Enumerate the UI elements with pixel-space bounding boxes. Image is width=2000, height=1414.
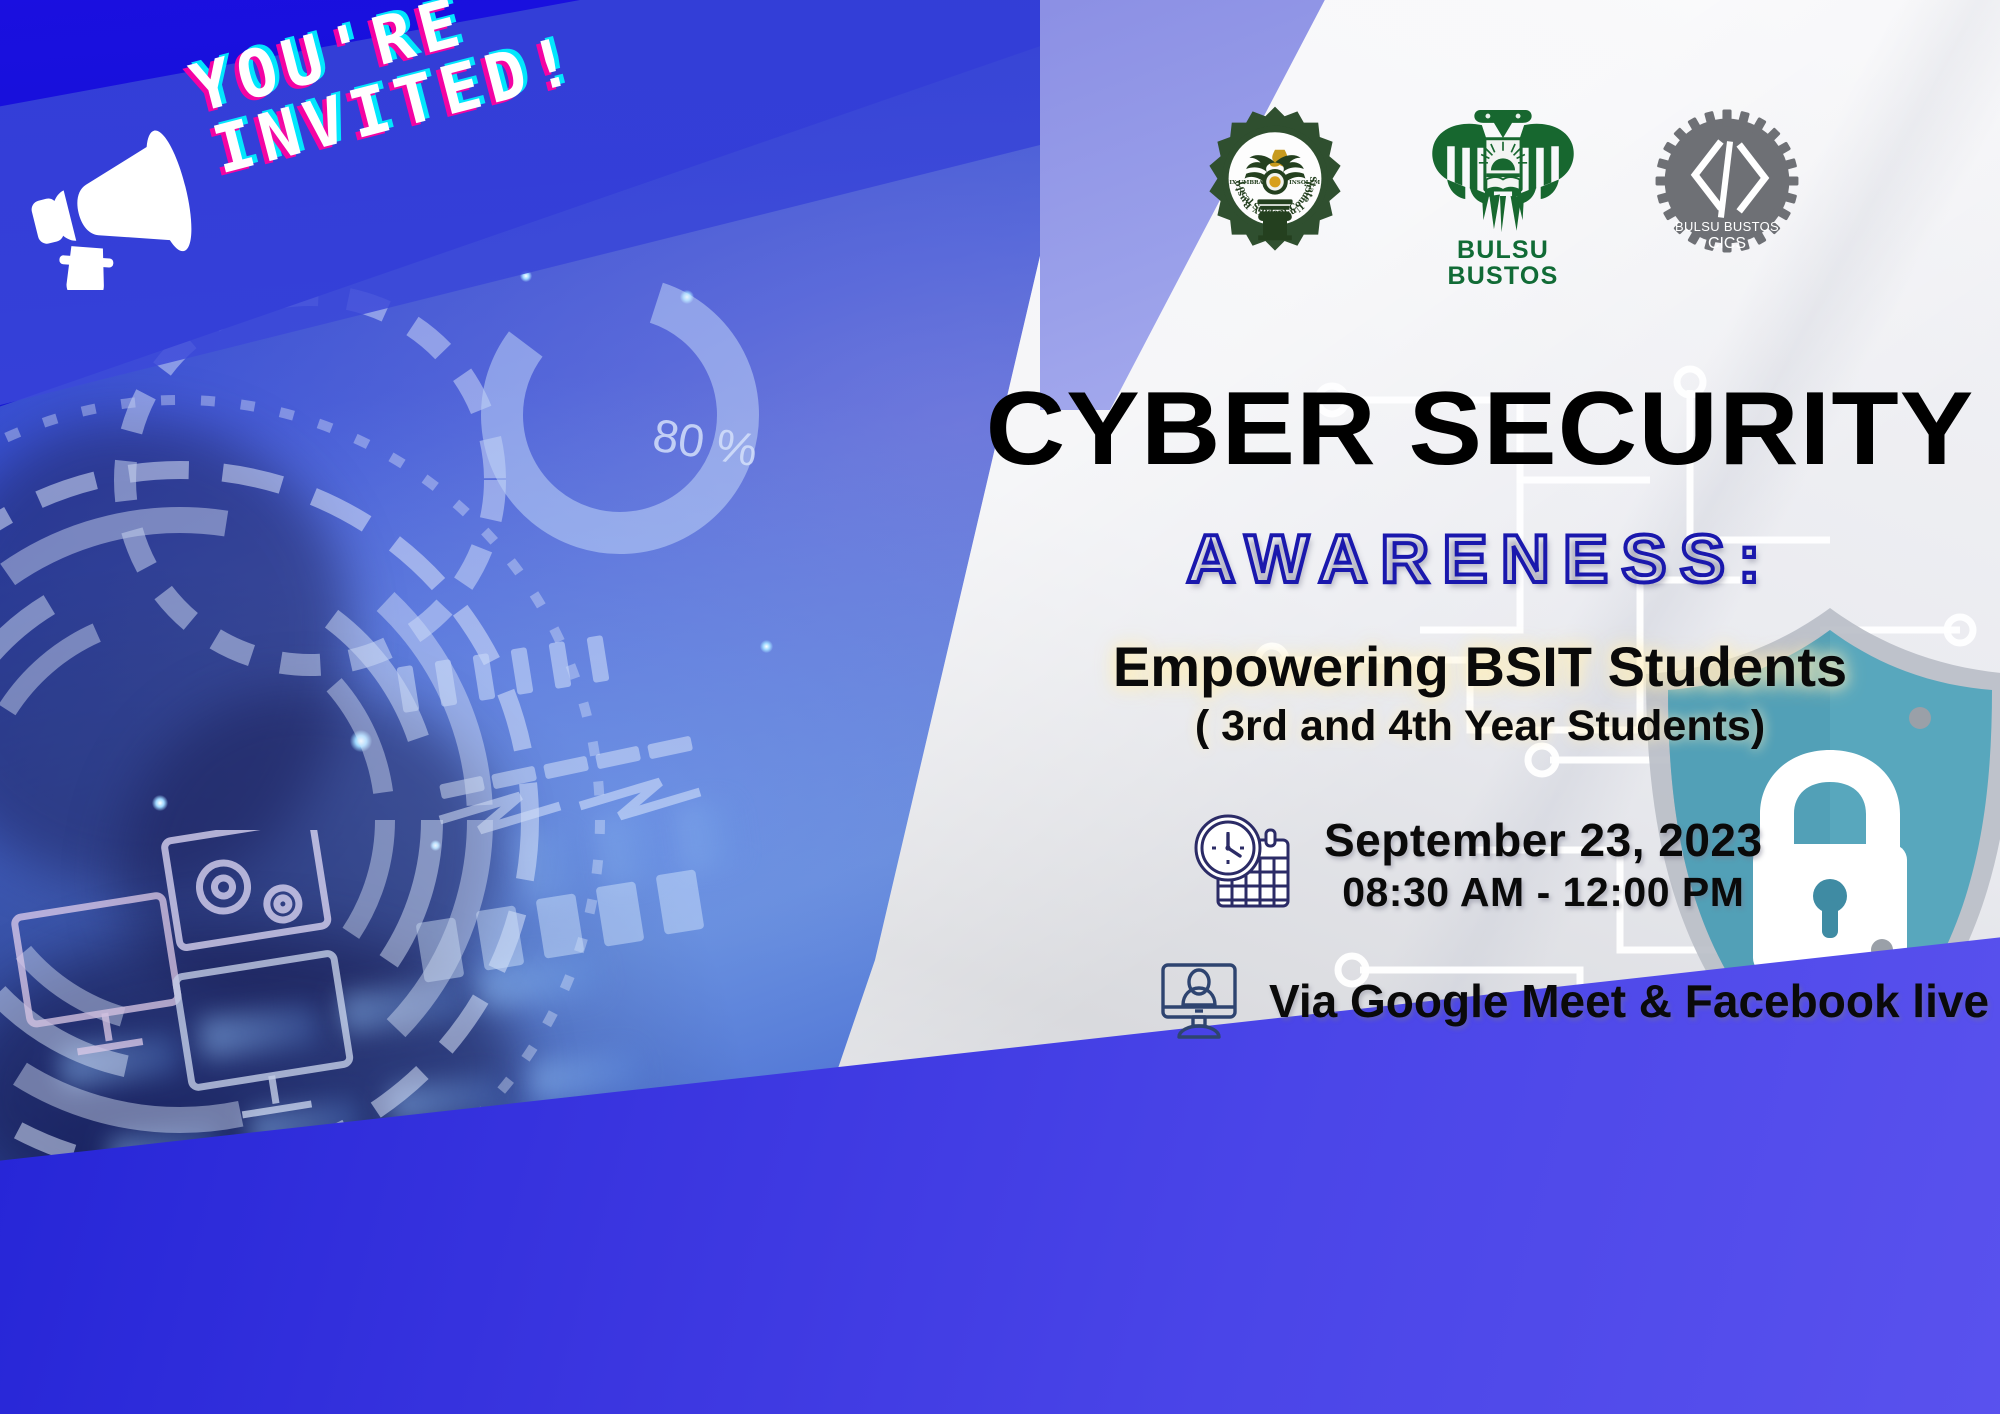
event-date: September 23, 2023 xyxy=(1324,813,1763,867)
event-subtitle: AWARENESS: xyxy=(1000,520,1960,598)
bulsu-wordmark: BULSU BUSTOS xyxy=(1448,237,1559,289)
cics-caption-line1: BULSU BUSTOS xyxy=(1675,219,1779,234)
bulsu-wordmark-line2: BUSTOS xyxy=(1448,263,1559,289)
webinar-monitor-icon xyxy=(1155,955,1247,1047)
date-time-row: September 23, 2023 08:30 AM - 12:00 PM xyxy=(1190,812,1763,916)
svg-text:INSOLEM: INSOLEM xyxy=(1289,180,1320,186)
venue-row: Via Google Meet & Facebook live xyxy=(1155,955,1989,1047)
bulsu-eagle-logo-icon xyxy=(1427,101,1579,233)
event-tagline: Empowering BSIT Students xyxy=(1000,634,1960,699)
bulsu-wordmark-line1: BULSU xyxy=(1448,237,1559,263)
logo-cics-gear: BULSU BUSTOS CICS xyxy=(1651,105,1803,257)
megaphone-icon xyxy=(22,130,212,290)
logo-row: Bulacan State University Bustos Campus L… xyxy=(1195,105,1803,289)
poster-canvas: 80 % xyxy=(0,0,2000,1414)
clock-calendar-icon xyxy=(1190,812,1298,916)
cics-caption-line2: CICS xyxy=(1708,235,1746,252)
event-venue: Via Google Meet & Facebook live xyxy=(1269,974,1989,1028)
progress-ring-80: 80 % xyxy=(455,250,785,580)
bulsu-local-student-council-seal-icon: Bulacan State University Bustos Campus L… xyxy=(1195,105,1355,265)
svg-text:IX UMBRA: IX UMBRA xyxy=(1229,180,1263,186)
logo-bulsu-eagle: BULSU BUSTOS xyxy=(1427,101,1579,289)
event-audience: ( 3rd and 4th Year Students) xyxy=(1000,702,1960,751)
event-title: CYBER SECURITY xyxy=(971,370,1989,489)
logo-lsc-seal: Bulacan State University Bustos Campus L… xyxy=(1195,105,1355,265)
event-time: 08:30 AM - 12:00 PM xyxy=(1324,869,1763,916)
cics-gear-logo-icon: BULSU BUSTOS CICS xyxy=(1651,105,1803,257)
